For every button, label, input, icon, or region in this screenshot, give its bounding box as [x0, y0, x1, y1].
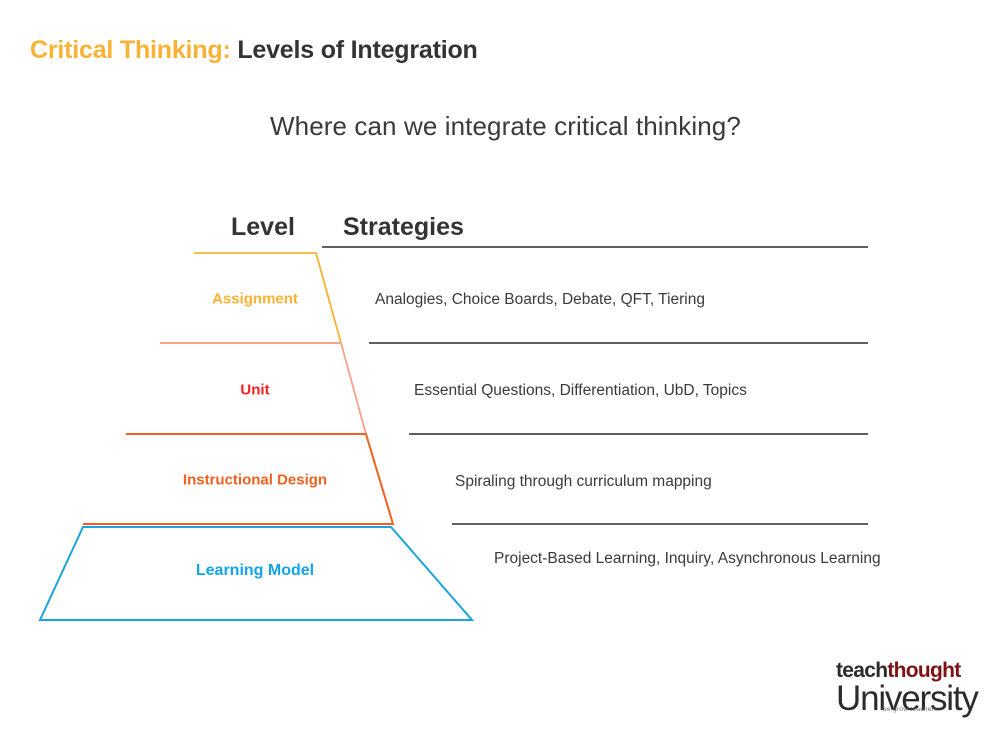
column-header-level: Level [231, 213, 295, 242]
page-title: Critical Thinking: Levels of Integration [30, 36, 478, 65]
page-title-accent: Critical Thinking: [30, 36, 231, 64]
tier-label-assignment: Assignment [212, 291, 298, 308]
tier-label-unit: Unit [240, 382, 269, 399]
strategies-instructional-design: Spiraling through curriculum mapping [455, 471, 712, 493]
logo-wordmark-top: teachthought [836, 660, 976, 681]
column-header-strategies: Strategies [343, 213, 464, 242]
tier-label-learning-model: Learning Model [196, 562, 314, 580]
logo-tagline: we grow teachers. [882, 706, 940, 713]
strategies-unit: Essential Questions, Differentiation, Ub… [414, 380, 747, 402]
strategies-assignment: Analogies, Choice Boards, Debate, QFT, T… [375, 289, 705, 311]
slide-canvas: Critical Thinking: Levels of Integration… [0, 0, 1000, 750]
page-subtitle: Where can we integrate critical thinking… [270, 111, 741, 142]
tier-label-instructional-design: Instructional Design [183, 472, 327, 489]
teachthought-university-logo: teachthought University we grow teachers… [836, 660, 976, 715]
strategies-learning-model: Project-Based Learning, Inquiry, Asynchr… [494, 548, 894, 570]
page-title-main: Levels of Integration [237, 36, 477, 64]
